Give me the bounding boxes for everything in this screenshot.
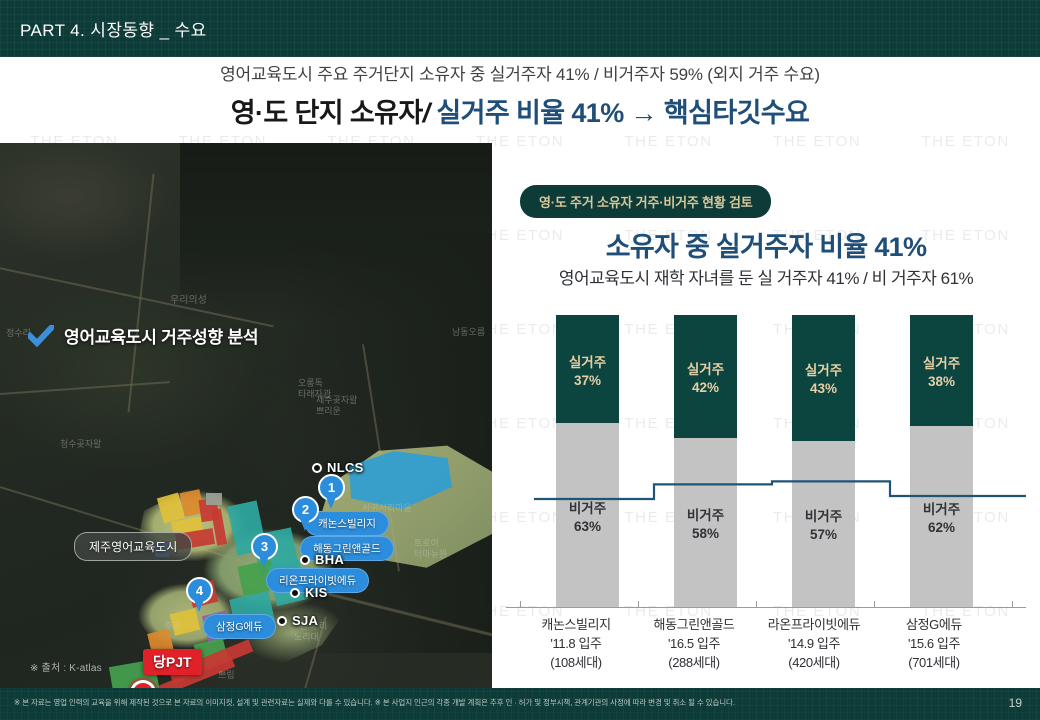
bar-value-nonresident: 62% bbox=[928, 520, 955, 535]
chart-axis-line bbox=[506, 607, 1026, 608]
bar-value-nonresident: 63% bbox=[574, 519, 601, 534]
bar-value-resident: 37% bbox=[574, 373, 601, 388]
category-label-samjeong-g-edu: 삼정G에듀 '15.6 입주 (701세대) bbox=[874, 615, 994, 672]
map-school-kis[interactable]: KIS bbox=[290, 585, 328, 600]
map-pill-samjeong-g-edu[interactable]: 삼정G에듀 bbox=[203, 614, 276, 639]
map-place-label: 남동오름 bbox=[452, 325, 485, 338]
chart-title: 소유자 중 실거주자 비율 41% bbox=[492, 225, 1040, 264]
map-panel[interactable]: 우리의성 남동오름 오롱독타래자관 제주곶자왈쁘리운 청수곶자왈 정수리 서귀서… bbox=[0, 143, 492, 688]
category-households: (420세대) bbox=[752, 653, 876, 672]
slide-headline: 영·도 단지 소유자/ 실거주 비율 41% → 핵심타깃수요 bbox=[0, 95, 1040, 131]
category-households: (701세대) bbox=[874, 653, 994, 672]
chart-axis-tick bbox=[1012, 601, 1013, 608]
chart-axis-tick bbox=[756, 601, 757, 608]
chart-axis-tick bbox=[638, 601, 639, 608]
headline-part1: 영·도 단지 소유자 bbox=[231, 98, 423, 128]
category-name: 캐논스빌리지 bbox=[516, 615, 636, 634]
bar-segment-nonresident[interactable]: 비거주 58% bbox=[674, 438, 737, 607]
map-dot-icon bbox=[300, 555, 310, 565]
map-place-label: 청수곶자왈 bbox=[60, 437, 101, 450]
bar-value-nonresident: 58% bbox=[692, 526, 719, 541]
section-badge: 영·도 주거 소유자 거주·비거주 현황 검토 bbox=[520, 185, 771, 218]
map-parcel bbox=[206, 493, 222, 505]
map-pin-tip-icon bbox=[300, 519, 310, 531]
bar-group-haedong-green-n-gold[interactable]: 실거주 42% 비거주 58% bbox=[674, 315, 737, 607]
bar-group-raon-private-edu[interactable]: 실거주 43% 비거주 57% bbox=[792, 315, 855, 607]
bar-label-resident: 실거주 bbox=[569, 351, 606, 371]
bar-value-resident: 43% bbox=[810, 381, 837, 396]
bar-segment-resident[interactable]: 실거주 37% bbox=[556, 315, 619, 423]
bar-label-resident: 실거주 bbox=[923, 352, 960, 372]
headline-arrow: → bbox=[631, 98, 657, 128]
map-school-bha[interactable]: BHA bbox=[300, 552, 344, 567]
bar-label-resident: 실거주 bbox=[805, 359, 842, 379]
map-place-label: 제주곶자왈쁘리운 bbox=[316, 395, 357, 417]
chart-panel: 영·도 주거 소유자 거주·비거주 현황 검토 소유자 중 실거주자 비율 41… bbox=[492, 143, 1040, 688]
map-pin-tip-icon bbox=[194, 600, 204, 612]
slide-subtitle: 영어교육도시 주요 주거단지 소유자 중 실거주자 41% / 비거주자 59%… bbox=[0, 62, 1040, 88]
category-movein: '16.5 입주 bbox=[634, 634, 754, 653]
bar-value-nonresident: 57% bbox=[810, 527, 837, 542]
bar-label-resident: 실거주 bbox=[687, 358, 724, 378]
map-dot-icon bbox=[312, 463, 322, 473]
bar-label-nonresident: 비거주 bbox=[805, 505, 842, 525]
map-dot-icon bbox=[290, 588, 300, 598]
chart-plot-area: 실거주 37% 비거주 63% 실거주 42% 비거주 58% bbox=[506, 315, 1026, 607]
category-label-canons-village: 캐논스빌리지 '11.8 입주 (108세대) bbox=[516, 615, 636, 672]
category-label-haedong-green-n-gold: 해동그린앤골드 '16.5 입주 (288세대) bbox=[634, 615, 754, 672]
map-school-label: SJA bbox=[292, 613, 318, 628]
map-place-label: 우리의성 bbox=[170, 291, 207, 306]
bar-group-canons-village[interactable]: 실거주 37% 비거주 63% bbox=[556, 315, 619, 607]
category-name: 해동그린앤골드 bbox=[634, 615, 754, 634]
map-place-label: 쁘립 bbox=[218, 668, 235, 681]
category-households: (108세대) bbox=[516, 653, 636, 672]
bar-segment-nonresident[interactable]: 비거주 63% bbox=[556, 423, 619, 607]
bar-segment-resident[interactable]: 실거주 43% bbox=[792, 315, 855, 441]
map-place-label: 주공 bbox=[164, 619, 181, 632]
check-icon bbox=[28, 325, 54, 347]
map-school-label: NLCS bbox=[327, 460, 364, 475]
map-source-note: ※ 출처 : K-atlas bbox=[30, 659, 102, 674]
bar-label-nonresident: 비거주 bbox=[569, 497, 606, 517]
slide-root: 우리의성 남동오름 오롱독타래자관 제주곶자왈쁘리운 청수곶자왈 정수리 서귀서… bbox=[0, 0, 1040, 720]
map-pin-3[interactable]: 3 bbox=[251, 533, 278, 568]
map-label-project[interactable]: 당PJT bbox=[143, 649, 202, 675]
map-pin-4[interactable]: 4 bbox=[186, 577, 213, 612]
bar-label-nonresident: 비거주 bbox=[923, 498, 960, 518]
category-label-raon-private-edu: 라온프라이빗에듀 '14.9 입주 (420세대) bbox=[752, 615, 876, 672]
map-place-label: 트로이터마뉴원 bbox=[414, 538, 447, 560]
footer-disclaimer: ※ 본 자료는 영업 인력의 교육을 위해 제작된 것으로 본 자료의 이미지컷… bbox=[14, 697, 735, 708]
map-dot-icon bbox=[277, 616, 287, 626]
bar-value-resident: 38% bbox=[928, 374, 955, 389]
page-number: 19 bbox=[1009, 696, 1022, 710]
bar-segment-nonresident[interactable]: 비거주 62% bbox=[910, 426, 973, 607]
category-name: 삼정G에듀 bbox=[874, 615, 994, 634]
map-pin-1[interactable]: 1 bbox=[318, 474, 345, 509]
page-title: PART 4. 시장동향 _ 수요 bbox=[20, 16, 207, 41]
category-movein: '14.9 입주 bbox=[752, 634, 876, 653]
category-households: (288세대) bbox=[634, 653, 754, 672]
map-school-label: KIS bbox=[305, 585, 328, 600]
headline-accent1: 실거주 비율 41% bbox=[436, 98, 623, 128]
category-movein: '15.6 입주 bbox=[874, 634, 994, 653]
bar-label-nonresident: 비거주 bbox=[687, 504, 724, 524]
map-school-sja[interactable]: SJA bbox=[277, 613, 318, 628]
headline-accent2: 핵심타깃수요 bbox=[664, 98, 809, 128]
map-school-label: BHA bbox=[315, 552, 344, 567]
header-bar: PART 4. 시장동향 _ 수요 bbox=[0, 0, 1040, 57]
map-pin-2[interactable]: 2 bbox=[292, 496, 319, 531]
bar-group-samjeong-g-edu[interactable]: 실거주 38% 비거주 62% bbox=[910, 315, 973, 607]
map-place-label: 노리대 bbox=[294, 630, 319, 643]
bar-segment-nonresident[interactable]: 비거주 57% bbox=[792, 441, 855, 607]
bar-segment-resident[interactable]: 실거주 38% bbox=[910, 315, 973, 426]
chart-subtitle: 영어교육도시 재학 자녀를 둔 실 거주자 41% / 비 거주자 61% bbox=[492, 264, 1040, 289]
category-name: 라온프라이빗에듀 bbox=[752, 615, 876, 634]
chart-axis-tick bbox=[520, 601, 521, 608]
headline-slash: / bbox=[423, 98, 430, 128]
map-school-nlcs[interactable]: NLCS bbox=[312, 460, 364, 475]
map-pin-tip-icon bbox=[326, 497, 336, 509]
map-overlay-label: 영어교육도시 거주성향 분석 bbox=[64, 323, 258, 348]
map-overlay-title: 영어교육도시 거주성향 분석 bbox=[28, 323, 258, 348]
map-pin-tip-icon bbox=[259, 556, 269, 568]
footer-bar: ※ 본 자료는 영업 인력의 교육을 위해 제작된 것으로 본 자료의 이미지컷… bbox=[0, 688, 1040, 720]
category-movein: '11.8 입주 bbox=[516, 634, 636, 653]
bar-segment-resident[interactable]: 실거주 42% bbox=[674, 315, 737, 438]
bar-value-resident: 42% bbox=[692, 380, 719, 395]
title-block: 영어교육도시 주요 주거단지 소유자 중 실거주자 41% / 비거주자 59%… bbox=[0, 62, 1040, 131]
chart-axis-tick bbox=[874, 601, 875, 608]
map-pill-education-city[interactable]: 제주영어교육도시 bbox=[74, 532, 192, 561]
